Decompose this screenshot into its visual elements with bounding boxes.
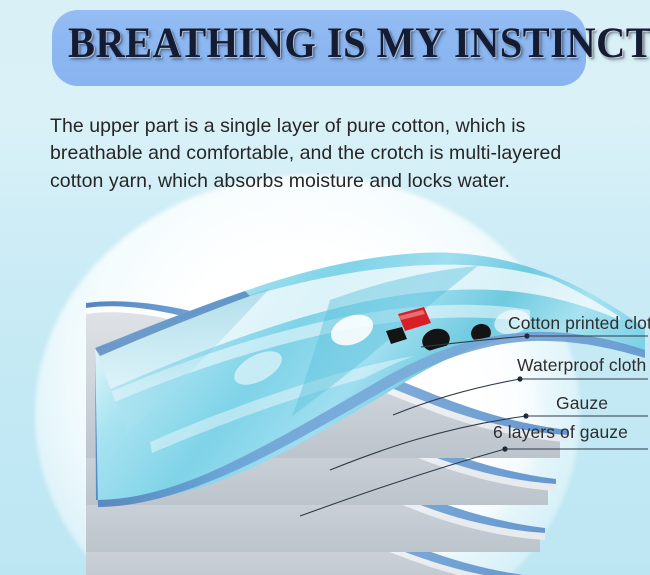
callout-label: Cotton printed cloth bbox=[508, 313, 650, 334]
callout-label: Gauze bbox=[556, 393, 608, 414]
callout-label: Waterproof cloth bbox=[517, 355, 646, 376]
product-infographic: BREATHING IS MY INSTINCT The upper part … bbox=[0, 0, 650, 575]
callout-labels: Cotton printed cloth Waterproof cloth Ga… bbox=[0, 0, 650, 575]
callout-label: 6 layers of gauze bbox=[493, 422, 628, 443]
